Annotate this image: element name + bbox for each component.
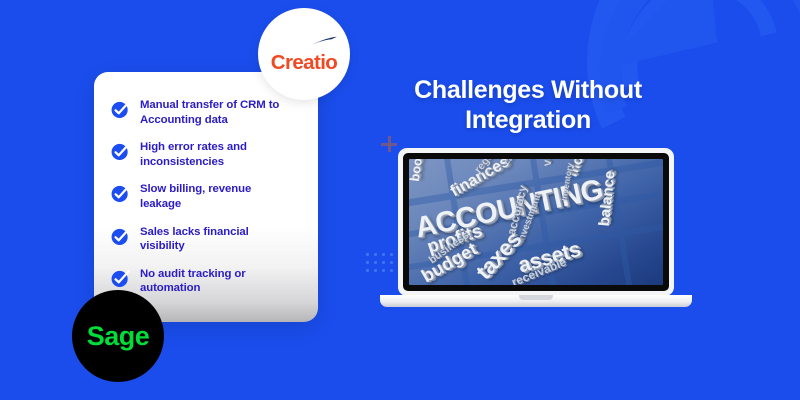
check-circle-icon (110, 141, 131, 162)
check-circle-icon (110, 183, 131, 204)
list-item: Sales lacks financial visibility (110, 225, 304, 254)
page-title-line1: Challenges Without (378, 76, 678, 106)
creatio-logo-badge: Creatio (258, 8, 350, 100)
word-cloud: ACCOUNTINGfinancesbookkeepingregulations… (409, 159, 663, 285)
background-blade-shape (589, 0, 719, 70)
list-item-label: Manual transfer of CRM to Accounting dat… (140, 98, 292, 127)
word-cloud-term: cash flow (503, 159, 535, 167)
creatio-wordmark: Creatio (263, 51, 345, 75)
list-item-label: Slow billing, revenue leakage (140, 182, 292, 211)
challenges-card: Manual transfer of CRM to Accounting dat… (94, 72, 318, 322)
check-circle-icon (110, 268, 131, 289)
challenges-list: Manual transfer of CRM to Accounting dat… (110, 98, 304, 296)
sage-wordmark: Sage (87, 323, 150, 350)
page-title: Challenges Without Integration (378, 76, 678, 135)
list-item: High error rates and inconsistencies (110, 140, 304, 169)
laptop-illustration: ACCOUNTINGfinancesbookkeepingregulations… (398, 148, 674, 314)
list-item: Manual transfer of CRM to Accounting dat… (110, 98, 304, 127)
check-circle-icon (110, 99, 131, 120)
laptop-notch (519, 295, 553, 300)
laptop-frame: ACCOUNTINGfinancesbookkeepingregulations… (398, 148, 674, 296)
list-item: Slow billing, revenue leakage (110, 182, 304, 211)
word-cloud-term: value (542, 159, 555, 166)
laptop-bezel: ACCOUNTINGfinancesbookkeepingregulations… (403, 153, 669, 291)
word-cloud-term: balance (596, 170, 617, 227)
page-title-line2: Integration (378, 106, 678, 136)
list-item-label: High error rates and inconsistencies (140, 140, 292, 169)
list-item-label: No audit tracking or automation (140, 267, 292, 296)
creatio-swoosh-icon (312, 33, 338, 43)
plus-decoration-icon (381, 136, 397, 152)
sage-logo-badge: Sage (72, 290, 164, 382)
check-circle-icon (110, 226, 131, 247)
list-item: No audit tracking or automation (110, 267, 304, 296)
poster-canvas: Manual transfer of CRM to Accounting dat… (0, 0, 800, 400)
list-item-label: Sales lacks financial visibility (140, 225, 292, 254)
laptop-screen: ACCOUNTINGfinancesbookkeepingregulations… (409, 159, 663, 285)
